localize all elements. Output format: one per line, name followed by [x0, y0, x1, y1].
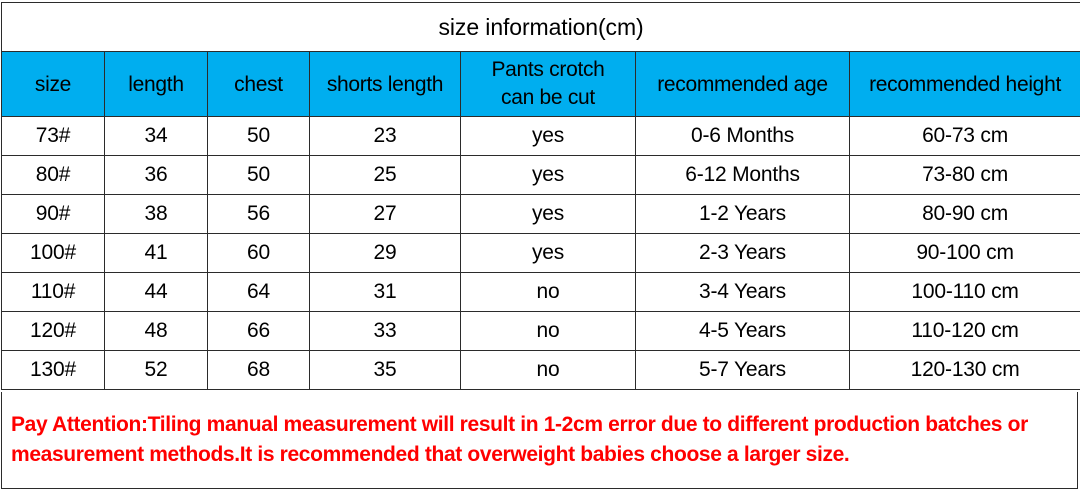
table-title: size information(cm): [2, 3, 1080, 52]
cell-recommended-age: 1-2 Years: [636, 195, 850, 234]
cell-length: 52: [105, 351, 208, 390]
cell-recommended-height: 73-80 cm: [850, 156, 1080, 195]
cell-recommended-height: 90-100 cm: [850, 234, 1080, 273]
table-row: 73# 34 50 23 yes 0-6 Months 60-73 cm: [2, 117, 1080, 156]
table-row: 120# 48 66 33 no 4-5 Years 110-120 cm: [2, 312, 1080, 351]
cell-shorts-length: 31: [310, 273, 461, 312]
cell-length: 44: [105, 273, 208, 312]
warning-box: Pay Attention:Tiling manual measurement …: [1, 392, 1078, 489]
size-information-table: size information(cm) size length chest s…: [1, 2, 1080, 390]
cell-crotch-can-be-cut: yes: [461, 117, 636, 156]
cell-chest: 50: [208, 156, 310, 195]
column-header-shorts-length: shorts length: [310, 52, 461, 117]
cell-shorts-length: 33: [310, 312, 461, 351]
cell-chest: 64: [208, 273, 310, 312]
cell-length: 36: [105, 156, 208, 195]
cell-crotch-can-be-cut: no: [461, 312, 636, 351]
cell-size: 90#: [2, 195, 105, 234]
cell-crotch-can-be-cut: no: [461, 273, 636, 312]
cell-size: 110#: [2, 273, 105, 312]
warning-text: Pay Attention:Tiling manual measurement …: [11, 410, 1071, 470]
cell-chest: 68: [208, 351, 310, 390]
column-header-pants-crotch-line1: Pants crotch: [491, 58, 604, 81]
cell-chest: 56: [208, 195, 310, 234]
column-header-pants-crotch-line2: can be cut: [501, 86, 595, 109]
cell-shorts-length: 27: [310, 195, 461, 234]
cell-recommended-height: 120-130 cm: [850, 351, 1080, 390]
table-row: 100# 41 60 29 yes 2-3 Years 90-100 cm: [2, 234, 1080, 273]
cell-recommended-age: 2-3 Years: [636, 234, 850, 273]
cell-recommended-age: 0-6 Months: [636, 117, 850, 156]
cell-shorts-length: 35: [310, 351, 461, 390]
cell-recommended-age: 3-4 Years: [636, 273, 850, 312]
cell-length: 41: [105, 234, 208, 273]
cell-shorts-length: 29: [310, 234, 461, 273]
cell-length: 48: [105, 312, 208, 351]
cell-shorts-length: 25: [310, 156, 461, 195]
column-header-size: size: [2, 52, 105, 117]
cell-chest: 66: [208, 312, 310, 351]
cell-recommended-age: 5-7 Years: [636, 351, 850, 390]
cell-crotch-can-be-cut: yes: [461, 156, 636, 195]
cell-recommended-height: 110-120 cm: [850, 312, 1080, 351]
cell-recommended-age: 6-12 Months: [636, 156, 850, 195]
cell-crotch-can-be-cut: yes: [461, 195, 636, 234]
cell-recommended-age: 4-5 Years: [636, 312, 850, 351]
cell-length: 34: [105, 117, 208, 156]
cell-size: 120#: [2, 312, 105, 351]
column-header-recommended-age: recommended age: [636, 52, 850, 117]
cell-crotch-can-be-cut: no: [461, 351, 636, 390]
cell-size: 130#: [2, 351, 105, 390]
column-header-length: length: [105, 52, 208, 117]
cell-crotch-can-be-cut: yes: [461, 234, 636, 273]
table-row: 130# 52 68 35 no 5-7 Years 120-130 cm: [2, 351, 1080, 390]
cell-length: 38: [105, 195, 208, 234]
cell-shorts-length: 23: [310, 117, 461, 156]
table-header-row: size length chest shorts length Pants cr…: [2, 52, 1080, 117]
table-row: 90# 38 56 27 yes 1-2 Years 80-90 cm: [2, 195, 1080, 234]
table-row: 110# 44 64 31 no 3-4 Years 100-110 cm: [2, 273, 1080, 312]
cell-chest: 50: [208, 117, 310, 156]
cell-size: 73#: [2, 117, 105, 156]
column-header-recommended-height: recommended height: [850, 52, 1080, 117]
cell-size: 80#: [2, 156, 105, 195]
column-header-pants-crotch: Pants crotchcan be cut: [461, 52, 636, 117]
cell-size: 100#: [2, 234, 105, 273]
cell-recommended-height: 60-73 cm: [850, 117, 1080, 156]
column-header-chest: chest: [208, 52, 310, 117]
table-row: 80# 36 50 25 yes 6-12 Months 73-80 cm: [2, 156, 1080, 195]
cell-recommended-height: 100-110 cm: [850, 273, 1080, 312]
cell-chest: 60: [208, 234, 310, 273]
cell-recommended-height: 80-90 cm: [850, 195, 1080, 234]
size-chart-sheet: size information(cm) size length chest s…: [0, 0, 1080, 500]
table-title-row: size information(cm): [2, 3, 1080, 52]
